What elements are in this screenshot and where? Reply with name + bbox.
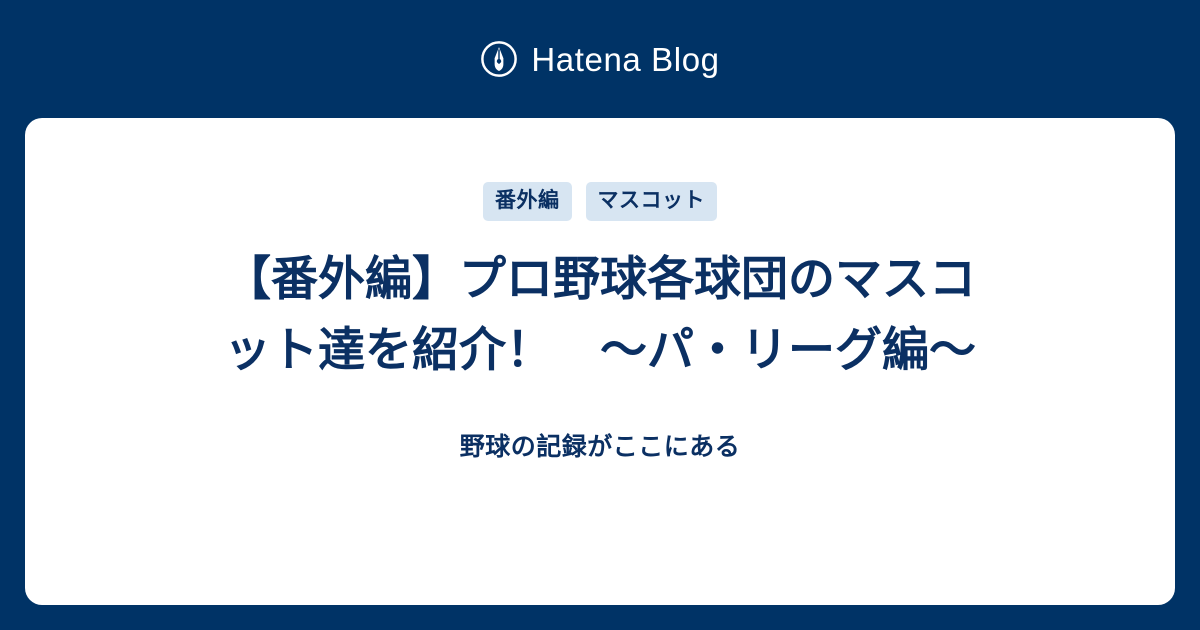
tag-list: 番外編 マスコット	[483, 182, 717, 221]
hatena-brand-bar: Hatena Blog	[0, 0, 1200, 118]
ogp-card-root: Hatena Blog 番外編 マスコット 【番外編】プロ野球各球団のマスコット…	[0, 0, 1200, 630]
tag-item[interactable]: 番外編	[483, 182, 572, 221]
pen-nib-in-circle-icon	[480, 40, 518, 78]
hatena-brand-name: Hatena Blog	[531, 43, 719, 76]
hatena-brand[interactable]: Hatena Blog	[480, 40, 719, 78]
blog-name[interactable]: 野球の記録がここにある	[460, 431, 741, 464]
tag-item[interactable]: マスコット	[586, 182, 718, 221]
entry-title[interactable]: 【番外編】プロ野球各球団のマスコット達を紹介！ ～パ・リーグ編～	[220, 243, 980, 385]
entry-card: 番外編 マスコット 【番外編】プロ野球各球団のマスコット達を紹介！ ～パ・リーグ…	[25, 118, 1175, 605]
